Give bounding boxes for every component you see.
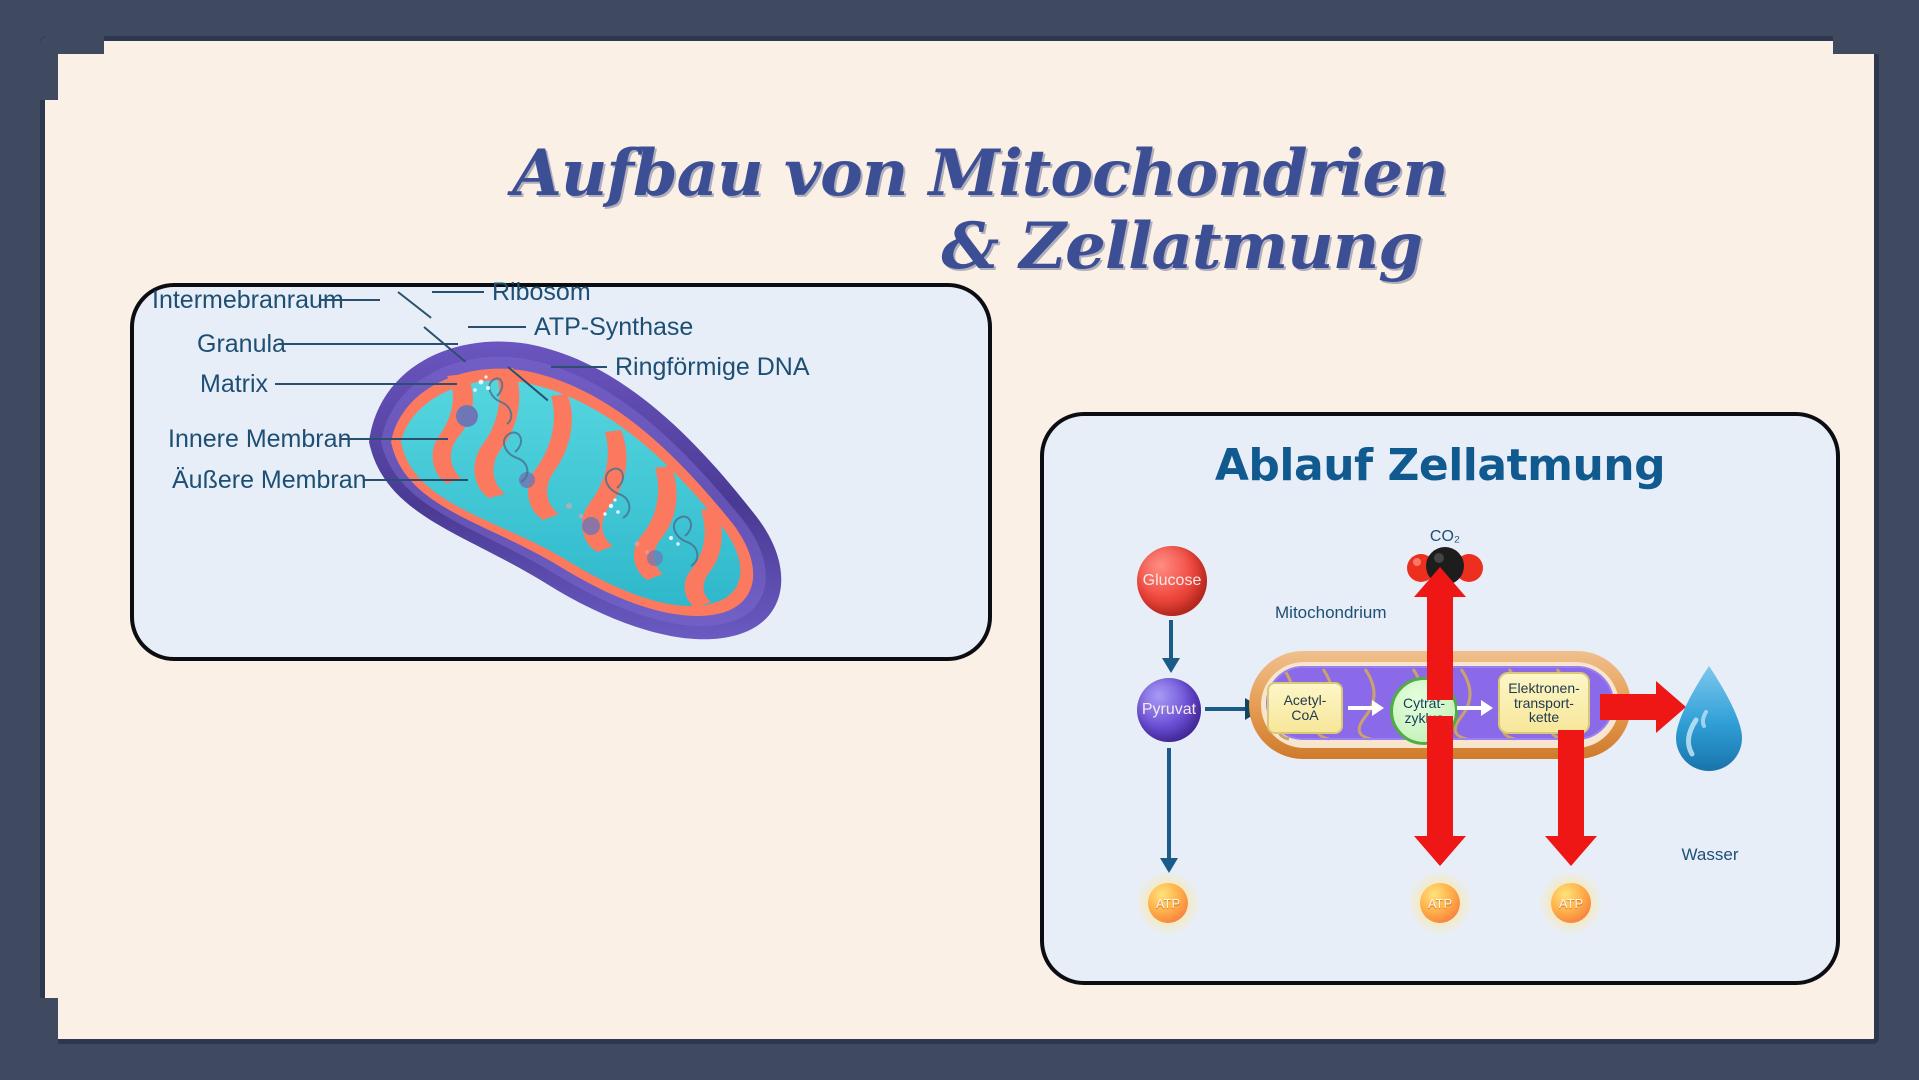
acetyl-coa-label: Acetyl-CoA bbox=[1274, 693, 1336, 722]
leader-inner-membrane bbox=[340, 438, 448, 440]
leader-intermembrane-space bbox=[320, 299, 380, 301]
arrow-etc-atp-head bbox=[1545, 836, 1597, 866]
arrow-pyruvat-to-acetylcoa-shaft bbox=[1205, 707, 1247, 711]
leader-ribosome bbox=[432, 291, 484, 293]
atp-core: ATP bbox=[1420, 883, 1460, 923]
arrow-acetylcoa-to-citrate-shaft bbox=[1348, 706, 1374, 710]
arrow-acetylcoa-to-citrate-head bbox=[1372, 700, 1384, 716]
leader-atp-synthase bbox=[468, 326, 526, 328]
label-inner-membrane: Innere Membran bbox=[168, 425, 351, 454]
leader-matrix bbox=[275, 383, 457, 385]
acetyl-coa-node: Acetyl-CoA bbox=[1267, 682, 1343, 734]
label-atp-synthase: ATP-Synthase bbox=[534, 313, 693, 342]
cellular-respiration-title: Ablauf Zellatmung bbox=[1040, 440, 1840, 491]
frame-corner-bottom-right bbox=[1833, 998, 1897, 1062]
arrow-co2-release-shaft bbox=[1427, 595, 1453, 700]
electron-transport-chain-label: Elektronen-transport-kette bbox=[1505, 681, 1583, 725]
atp-node-citrate: ATP bbox=[1403, 866, 1477, 940]
atp-node-glycolysis: ATP bbox=[1131, 866, 1205, 940]
glucose-node: Glucose bbox=[1137, 546, 1207, 616]
leader-outer-membrane bbox=[364, 479, 468, 481]
electron-transport-chain-node: Elektronen-transport-kette bbox=[1498, 672, 1590, 734]
atp-core: ATP bbox=[1148, 883, 1188, 923]
arrow-co2-release-head bbox=[1414, 567, 1466, 597]
mitochondrium-label: Mitochondrium bbox=[1275, 603, 1387, 623]
page-title: Aufbau von Mitochondrien & Zellatmung bbox=[300, 140, 1660, 280]
arrow-pyruvat-to-atp-shaft bbox=[1167, 748, 1171, 860]
title-line-2: & Zellatmung bbox=[300, 213, 1660, 280]
glucose-label: Glucose bbox=[1143, 572, 1202, 590]
frame-corner-top-right bbox=[1833, 36, 1897, 100]
arrow-citrate-to-etc-shaft bbox=[1457, 706, 1483, 710]
title-line-1: Aufbau von Mitochondrien bbox=[300, 140, 1660, 207]
atp-label: ATP bbox=[1428, 896, 1452, 911]
pyruvat-label: Pyruvat bbox=[1142, 701, 1196, 719]
frame-corner-top-left bbox=[40, 36, 104, 100]
pyruvat-node: Pyruvat bbox=[1137, 678, 1201, 742]
arrow-citrate-atp-shaft bbox=[1427, 716, 1453, 838]
arrow-glucose-to-pyruvat-shaft bbox=[1169, 620, 1173, 660]
atp-core: ATP bbox=[1551, 883, 1591, 923]
atp-label: ATP bbox=[1156, 896, 1180, 911]
co2-label: CO₂ bbox=[1400, 528, 1490, 546]
label-circular-dna: Ringförmige DNA bbox=[615, 353, 810, 382]
frame-corner-bottom-left bbox=[40, 998, 104, 1062]
arrow-etc-atp-shaft bbox=[1558, 730, 1584, 838]
label-ribosome: Ribosom bbox=[492, 278, 591, 307]
poster-canvas: Aufbau von Mitochondrien & Zellatmung bbox=[0, 0, 1919, 1080]
label-matrix: Matrix bbox=[200, 370, 268, 399]
label-outer-membrane: Äußere Membran bbox=[172, 466, 367, 495]
atp-node-etc: ATP bbox=[1534, 866, 1608, 940]
wasser-label: Wasser bbox=[1655, 845, 1765, 865]
label-granula: Granula bbox=[197, 330, 286, 359]
arrow-water-shaft bbox=[1600, 694, 1658, 720]
arrow-citrate-atp-head bbox=[1414, 836, 1466, 866]
arrow-citrate-to-etc-head bbox=[1481, 700, 1493, 716]
label-intermembrane-space: Intermebranraum bbox=[152, 286, 344, 315]
water-drop-icon bbox=[1668, 662, 1750, 780]
arrow-glucose-to-pyruvat-head bbox=[1162, 658, 1180, 673]
atp-label: ATP bbox=[1559, 896, 1583, 911]
leader-granula bbox=[278, 343, 458, 345]
leader-circular-dna bbox=[551, 366, 607, 368]
